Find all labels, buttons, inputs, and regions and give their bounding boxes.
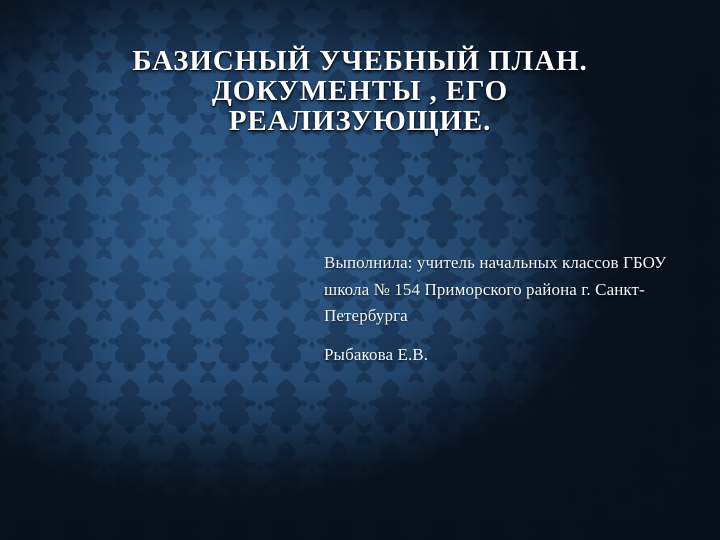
slide-author-block: Выполнила: учитель начальных классов ГБО… bbox=[324, 250, 712, 368]
author-affiliation-text: Выполнила: учитель начальных классов ГБО… bbox=[324, 250, 712, 330]
title-line-3: РЕАЛИЗУЮЩИЕ. bbox=[36, 106, 684, 136]
presentation-slide: БАЗИСНЫЙ УЧЕБНЫЙ ПЛАН. ДОКУМЕНТЫ , ЕГО Р… bbox=[0, 0, 720, 540]
title-line-2: ДОКУМЕНТЫ , ЕГО bbox=[36, 76, 684, 106]
slide-content: БАЗИСНЫЙ УЧЕБНЫЙ ПЛАН. ДОКУМЕНТЫ , ЕГО Р… bbox=[0, 0, 720, 540]
author-name-text: Рыбакова Е.В. bbox=[324, 342, 712, 369]
title-line-1: БАЗИСНЫЙ УЧЕБНЫЙ ПЛАН. bbox=[36, 46, 684, 76]
slide-title: БАЗИСНЫЙ УЧЕБНЫЙ ПЛАН. ДОКУМЕНТЫ , ЕГО Р… bbox=[36, 46, 684, 136]
